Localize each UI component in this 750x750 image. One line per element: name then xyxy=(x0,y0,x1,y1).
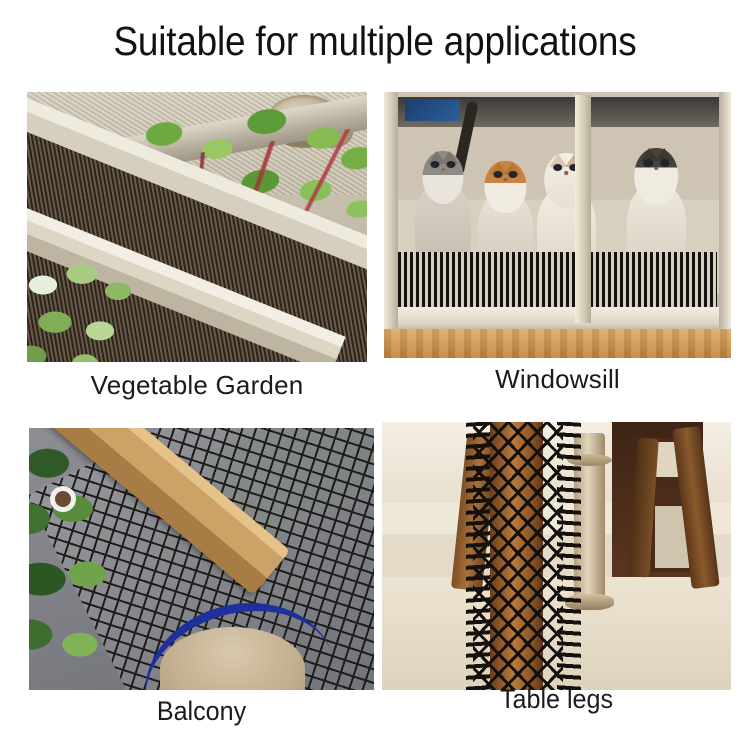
photo-windowsill xyxy=(384,92,731,358)
cat-head xyxy=(422,151,463,205)
panel-vegetable-garden: Vegetable Garden xyxy=(27,92,367,362)
spike-strip-on-sill xyxy=(398,252,717,311)
photo-balcony xyxy=(29,428,374,690)
green-plant-leaves xyxy=(29,433,188,685)
foreground-leaves xyxy=(27,254,163,362)
caption-table-legs: Table legs xyxy=(394,684,719,715)
cat-eye-right xyxy=(660,159,670,166)
cat-grey-tabby xyxy=(415,151,471,268)
cat-nose xyxy=(441,168,445,171)
door-frame-left xyxy=(384,92,398,337)
cat-head xyxy=(635,148,679,206)
photo-vegetable-garden xyxy=(27,92,367,362)
cat-eye-left xyxy=(493,171,502,178)
panel-balcony: Balcony xyxy=(29,428,374,690)
page-title: Suitable for multiple applications xyxy=(38,16,713,66)
application-panel-grid: Vegetable Garden xyxy=(27,92,731,717)
caption-vegetable-garden: Vegetable Garden xyxy=(27,370,367,401)
panel-windowsill: Windowsill xyxy=(384,92,731,358)
door-frame-right xyxy=(719,92,731,337)
spike-strip-right-profile xyxy=(557,422,581,690)
cat-nose xyxy=(654,167,658,170)
door-frame-center xyxy=(575,95,591,324)
cat-eye-right xyxy=(509,171,518,178)
spike-strip-left-profile xyxy=(466,422,490,690)
cat-nose xyxy=(504,178,508,181)
cat-nose xyxy=(564,171,568,174)
product-feature-image: Suitable for multiple applications Veget… xyxy=(0,0,750,750)
cat-eye-left xyxy=(431,161,440,168)
wooden-floor xyxy=(384,329,731,358)
panel-table-legs: Table legs xyxy=(382,422,731,690)
white-ring-detail xyxy=(50,486,76,512)
cat-eye-left xyxy=(643,159,653,166)
caption-windowsill: Windowsill xyxy=(384,364,731,395)
blue-poster xyxy=(405,100,461,121)
caption-balcony: Balcony xyxy=(41,696,362,727)
cat-eye-right xyxy=(446,161,455,168)
cat-eye-left xyxy=(553,164,563,171)
photo-table-legs xyxy=(382,422,731,690)
